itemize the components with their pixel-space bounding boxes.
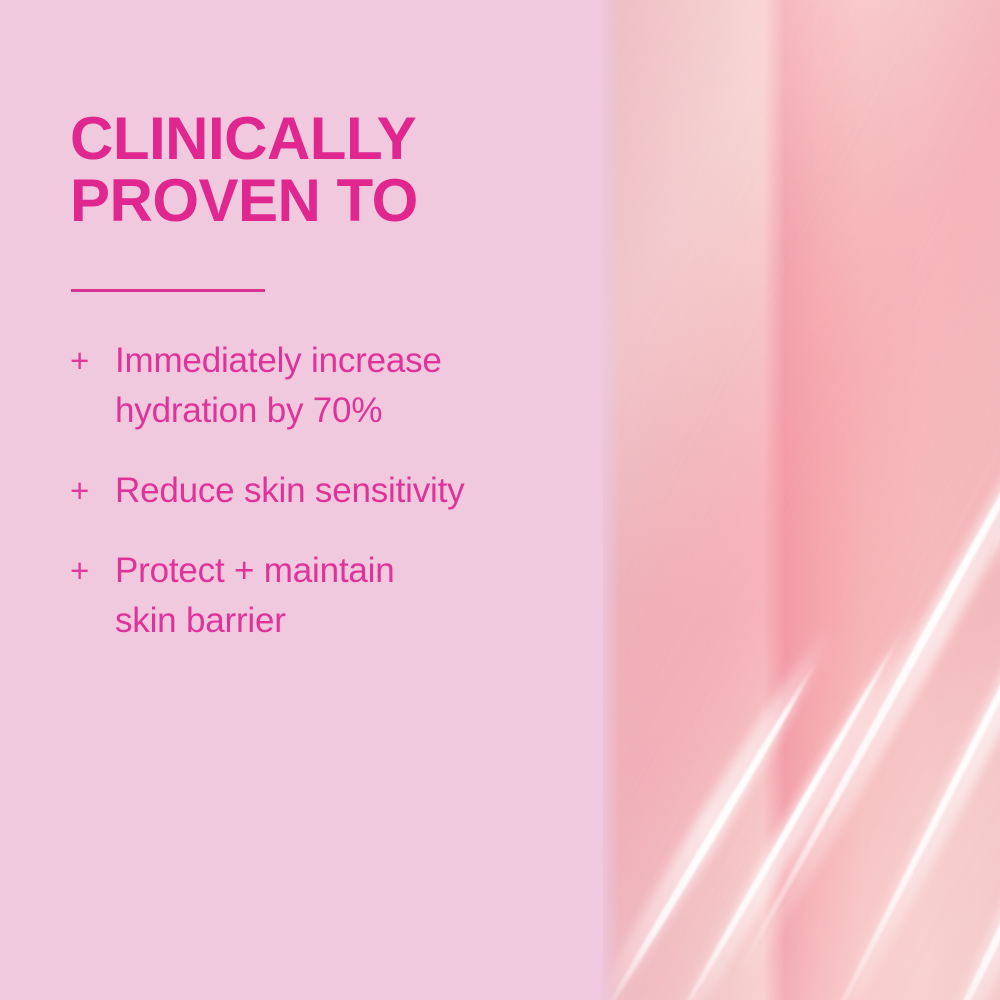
page-title: CLINICALLY PROVEN TO bbox=[70, 108, 570, 232]
title-divider bbox=[71, 289, 265, 292]
product-claim-banner: CLINICALLY PROVEN TO + Immediately incre… bbox=[0, 0, 1000, 1000]
plus-icon: + bbox=[70, 336, 115, 386]
plus-icon: + bbox=[70, 546, 115, 596]
plus-icon: + bbox=[70, 466, 115, 516]
copy-panel: CLINICALLY PROVEN TO + Immediately incre… bbox=[0, 0, 603, 1000]
list-item-label: Immediately increase hydration by 70% bbox=[115, 336, 570, 436]
list-item-label: Reduce skin sensitivity bbox=[115, 466, 570, 516]
list-item-label: Protect + maintain skin barrier bbox=[115, 546, 570, 646]
claims-list: + Immediately increase hydration by 70% … bbox=[70, 336, 570, 646]
list-item: + Protect + maintain skin barrier bbox=[70, 546, 570, 646]
gel-texture-image bbox=[603, 0, 1000, 1000]
list-item: + Immediately increase hydration by 70% bbox=[70, 336, 570, 436]
list-item: + Reduce skin sensitivity bbox=[70, 466, 570, 516]
gel-left-edge-fade bbox=[603, 0, 619, 1000]
